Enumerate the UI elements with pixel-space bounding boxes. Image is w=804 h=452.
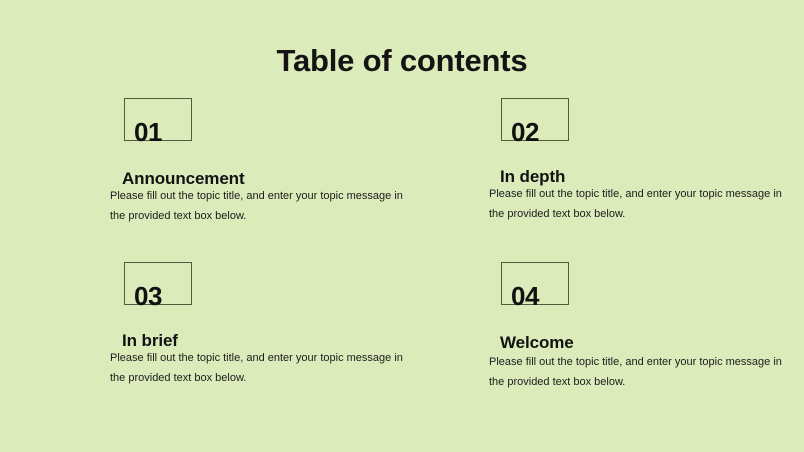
number-label-02: 02 xyxy=(511,119,539,145)
entry-body-04: Please fill out the topic title, and ent… xyxy=(489,352,789,392)
entry-heading-04: Welcome xyxy=(500,334,574,353)
entry-body-03: Please fill out the topic title, and ent… xyxy=(110,348,410,388)
page-title: Table of contents xyxy=(0,44,804,78)
entry-body-01: Please fill out the topic title, and ent… xyxy=(110,186,410,226)
number-label-03: 03 xyxy=(134,283,162,309)
slide-canvas: Table of contents 01 Announcement Please… xyxy=(0,0,804,452)
number-box-01: 01 xyxy=(124,98,192,141)
number-label-04: 04 xyxy=(511,283,539,309)
number-label-01: 01 xyxy=(134,119,162,145)
number-box-03: 03 xyxy=(124,262,192,305)
number-box-02: 02 xyxy=(501,98,569,141)
entry-body-02: Please fill out the topic title, and ent… xyxy=(489,184,789,224)
number-box-04: 04 xyxy=(501,262,569,305)
